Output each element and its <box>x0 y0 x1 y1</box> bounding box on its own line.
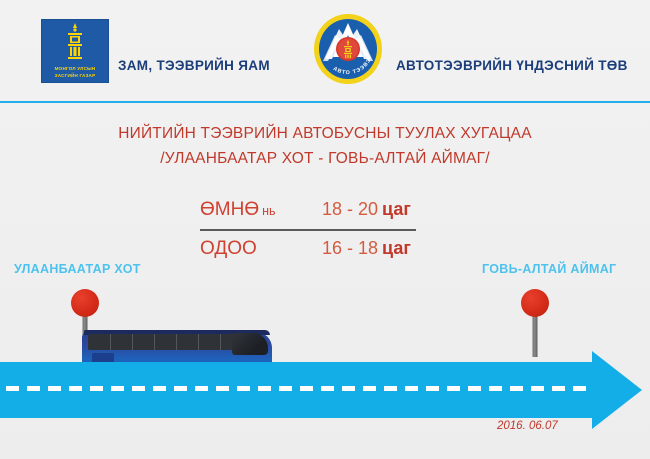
row-value-before: 18 - 20цаг <box>322 199 411 220</box>
ministry-title: ЗАМ, ТЭЭВРИЙН ЯАМ <box>118 58 270 73</box>
bus-windshield <box>232 333 268 355</box>
pin-stem <box>533 313 538 357</box>
soyombo-symbol-icon <box>64 23 86 63</box>
road-dash <box>342 386 355 391</box>
road-dash <box>447 386 460 391</box>
road-dash <box>321 386 334 391</box>
row-value-number: 16 - 18 <box>322 238 378 258</box>
road-dash <box>573 386 586 391</box>
row-value-unit: цаг <box>382 238 411 258</box>
road-dash <box>132 386 145 391</box>
pin-head <box>71 289 99 317</box>
road-dash <box>195 386 208 391</box>
road-dash <box>426 386 439 391</box>
road-dash <box>279 386 292 391</box>
title-line-1: НИЙТИЙН ТЭЭВРИЙН АВТОБУСНЫ ТУУЛАХ ХУГАЦА… <box>0 122 650 146</box>
road-dash <box>216 386 229 391</box>
poster-canvas: МОНГОЛ УЛСЫН ЗАСГИЙН ГАЗАР ЗАМ, ТЭЭВРИЙН… <box>0 0 650 459</box>
row-label-before: ӨМНӨнь <box>200 199 276 221</box>
road-dash <box>111 386 124 391</box>
gov-emblem-caption: МОНГОЛ УЛСЫН ЗАСГИЙН ГАЗАР <box>41 66 109 79</box>
road-dash <box>90 386 103 391</box>
header-bar: МОНГОЛ УЛСЫН ЗАСГИЙН ГАЗАР ЗАМ, ТЭЭВРИЙН… <box>0 0 650 102</box>
row-separator <box>200 229 416 231</box>
road-dash <box>489 386 502 391</box>
road-dash <box>237 386 250 391</box>
page-title: НИЙТИЙН ТЭЭВРИЙН АВТОБУСНЫ ТУУЛАХ ХУГАЦА… <box>0 122 650 172</box>
row-label-main: ОДОО <box>200 238 257 259</box>
road-dash <box>363 386 376 391</box>
road-dash <box>510 386 523 391</box>
road-dash <box>6 386 19 391</box>
road-dash <box>552 386 565 391</box>
road-dashed-centerline <box>6 386 626 391</box>
road-dash <box>405 386 418 391</box>
row-value-number: 18 - 20 <box>322 199 378 219</box>
table-row: ӨМНӨнь 18 - 20цаг <box>200 199 430 231</box>
row-value-now: 16 - 18цаг <box>322 238 411 259</box>
road-dash <box>153 386 166 391</box>
road-dash <box>48 386 61 391</box>
pin-head <box>521 289 549 317</box>
duration-comparison-table: ӨМНӨнь 18 - 20цаг ОДОО 16 - 18цаг <box>200 199 430 270</box>
origin-city-label: УЛААНБААТАР ХОТ <box>14 262 141 276</box>
gov-caption-line2: ЗАСГИЙН ГАЗАР <box>41 73 109 80</box>
destination-city-label: ГОВЬ-АЛТАЙ АЙМАГ <box>482 262 616 276</box>
road-dash <box>174 386 187 391</box>
national-transport-center-emblem-icon: АВТО ТЭЭВЭР <box>313 13 383 85</box>
road-dash <box>531 386 544 391</box>
date-stamp: 2016. 06.07 <box>497 420 558 432</box>
road-dash <box>258 386 271 391</box>
road-dash <box>27 386 40 391</box>
road-dash <box>384 386 397 391</box>
row-value-unit: цаг <box>382 199 411 219</box>
header-divider <box>0 101 650 103</box>
destination-map-pin-icon <box>521 289 549 359</box>
mongolian-government-emblem-icon: МОНГОЛ УЛСЫН ЗАСГИЙН ГАЗАР <box>41 19 109 83</box>
road-dash <box>468 386 481 391</box>
road-dash <box>69 386 82 391</box>
row-label-main: ӨМНӨ <box>200 199 259 220</box>
transport-center-title: АВТОТЭЭВРИЙН ҮНДЭСНИЙ ТӨВ <box>396 58 628 73</box>
table-row: ОДОО 16 - 18цаг <box>200 238 430 270</box>
road-dash <box>300 386 313 391</box>
row-label-suffix: нь <box>262 204 275 218</box>
title-line-2: /УЛААНБААТАР ХОТ - ГОВЬ-АЛТАЙ АЙМАГ/ <box>0 146 650 172</box>
row-label-now: ОДОО <box>200 238 260 260</box>
